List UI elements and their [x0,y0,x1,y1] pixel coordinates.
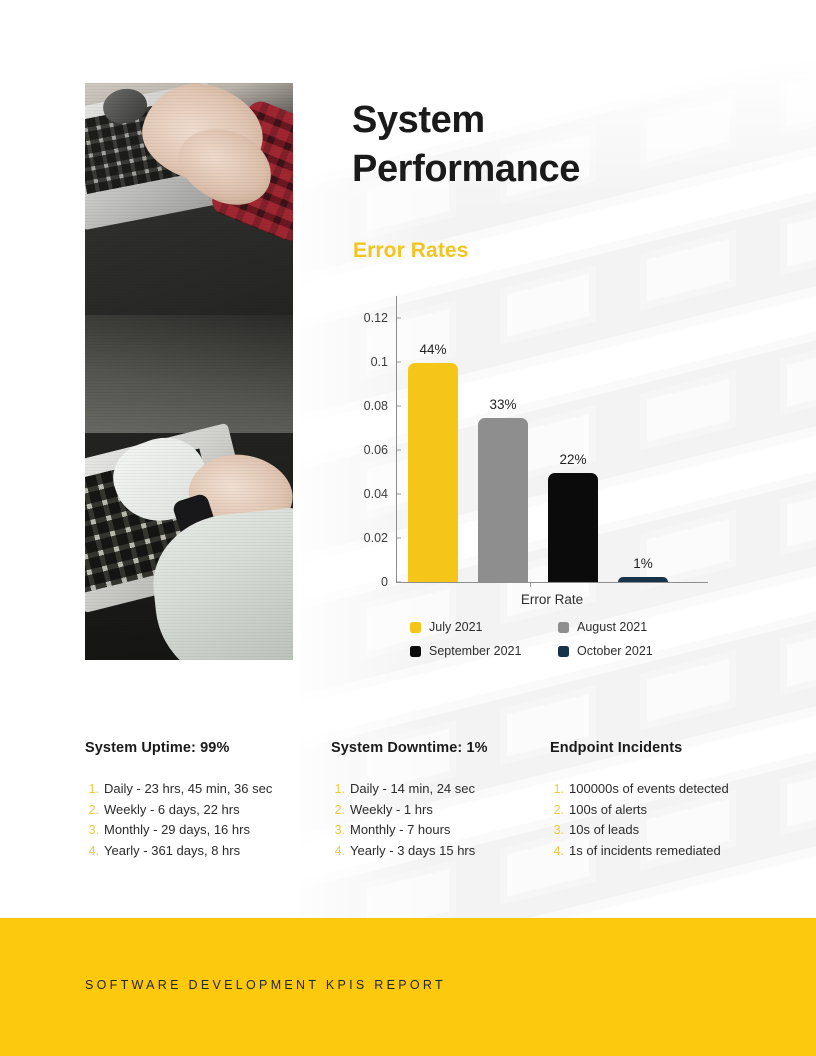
list-item-number: 2. [331,802,345,819]
list-item-text: Weekly - 6 days, 22 hrs [104,801,240,818]
y-axis-tick-label: 0 [381,575,388,589]
stat-heading: System Downtime: 1% [331,740,546,756]
legend-label: October 2021 [577,644,653,658]
list-item-text: Daily - 23 hrs, 45 min, 36 sec [104,780,272,797]
list-item-text: Daily - 14 min, 24 sec [350,780,475,797]
list-item-text: 1s of incidents remediated [569,842,721,859]
list-item-number: 1. [85,781,99,798]
legend-swatch-icon [558,646,569,657]
list-item: 4.Yearly - 361 days, 8 hrs [85,842,317,860]
chart-bar-value-label: 22% [544,452,602,467]
list-item: 3.Monthly - 29 days, 16 hrs [85,821,317,839]
chart-bar-group: 22% [544,296,602,582]
footer-text: SOFTWARE DEVELOPMENT KPIS REPORT [85,978,446,992]
stat-heading: Endpoint Incidents [550,740,785,756]
list-item: 1.Daily - 23 hrs, 45 min, 36 sec [85,780,317,798]
legend-swatch-icon [558,622,569,633]
list-item: 3.Monthly - 7 hours [331,821,546,839]
y-axis-tick-label: 0.02 [364,531,388,545]
legend-label: July 2021 [429,620,483,634]
list-item-number: 4. [550,843,564,860]
list-item-text: Monthly - 7 hours [350,821,450,838]
stat-list: 1.Daily - 23 hrs, 45 min, 36 sec2.Weekly… [85,780,317,859]
list-item: 1.Daily - 14 min, 24 sec [331,780,546,798]
list-item-number: 1. [550,781,564,798]
chart-y-axis: 00.020.040.060.080.10.12 [352,296,396,582]
list-item-number: 2. [550,802,564,819]
legend-item-july: July 2021 [410,620,558,634]
list-item-number: 4. [331,843,345,860]
list-item: 1.100000s of events detected [550,780,785,798]
legend-label: September 2021 [429,644,521,658]
list-item-number: 3. [331,822,345,839]
hero-photo [85,83,293,660]
y-axis-tick-label: 0.12 [364,311,388,325]
stat-list: 1.100000s of events detected2.100s of al… [550,780,785,859]
legend-row: July 2021 August 2021 [410,620,708,634]
list-item-text: 100s of alerts [569,801,647,818]
list-item-text: 10s of leads [569,821,639,838]
chart-bar [618,577,668,582]
list-item: 3.10s of leads [550,821,785,839]
chart-bar-value-label: 44% [404,342,462,357]
list-item: 2.Weekly - 1 hrs [331,801,546,819]
section-title: Error Rates [353,239,468,263]
legend-item-september: September 2021 [410,644,558,658]
stat-heading: System Uptime: 99% [85,740,317,756]
page-title: System Performance [352,96,682,193]
chart-bar-group: 1% [614,296,672,582]
stat-list: 1.Daily - 14 min, 24 sec2.Weekly - 1 hrs… [331,780,546,859]
chart-bars: 44%33%22%1% [398,296,708,582]
list-item-text: Yearly - 3 days 15 hrs [350,842,475,859]
list-item-number: 1. [331,781,345,798]
stat-column-uptime: System Uptime: 99% 1.Daily - 23 hrs, 45 … [85,740,317,862]
chart-bar [408,363,458,582]
chart-x-axis-title: Error Rate [396,592,708,607]
error-rates-bar-chart: 00.020.040.060.080.10.12 44%33%22%1% Err… [352,296,708,668]
list-item-text: 100000s of events detected [569,780,729,797]
footer-band: SOFTWARE DEVELOPMENT KPIS REPORT [0,918,816,1056]
chart-bar [478,418,528,582]
legend-swatch-icon [410,646,421,657]
list-item-text: Yearly - 361 days, 8 hrs [104,842,240,859]
list-item: 2.100s of alerts [550,801,785,819]
list-item: 4.1s of incidents remediated [550,842,785,860]
y-axis-tick-label: 0.04 [364,487,388,501]
chart-bar-group: 44% [404,296,462,582]
stat-column-downtime: System Downtime: 1% 1.Daily - 14 min, 24… [331,740,546,862]
list-item: 2.Weekly - 6 days, 22 hrs [85,801,317,819]
legend-item-august: August 2021 [558,620,647,634]
chart-bar-value-label: 33% [474,397,532,412]
legend-label: August 2021 [577,620,647,634]
list-item-text: Monthly - 29 days, 16 hrs [104,821,250,838]
list-item-number: 3. [85,822,99,839]
list-item-number: 4. [85,843,99,860]
list-item: 4.Yearly - 3 days 15 hrs [331,842,546,860]
chart-bar [548,473,598,582]
legend-item-october: October 2021 [558,644,653,658]
list-item-text: Weekly - 1 hrs [350,801,433,818]
stat-column-endpoint-incidents: Endpoint Incidents 1.100000s of events d… [550,740,785,862]
list-item-number: 3. [550,822,564,839]
chart-bar-value-label: 1% [614,556,672,571]
legend-swatch-icon [410,622,421,633]
list-item-number: 2. [85,802,99,819]
chart-legend: July 2021 August 2021 September 2021 Oct… [410,620,708,668]
y-axis-tick-label: 0.08 [364,399,388,413]
y-axis-tick-label: 0.1 [371,355,388,369]
y-axis-tick-label: 0.06 [364,443,388,457]
chart-x-center-tick [530,582,531,587]
chart-x-axis-line [396,582,708,583]
legend-row: September 2021 October 2021 [410,644,708,658]
chart-bar-group: 33% [474,296,532,582]
